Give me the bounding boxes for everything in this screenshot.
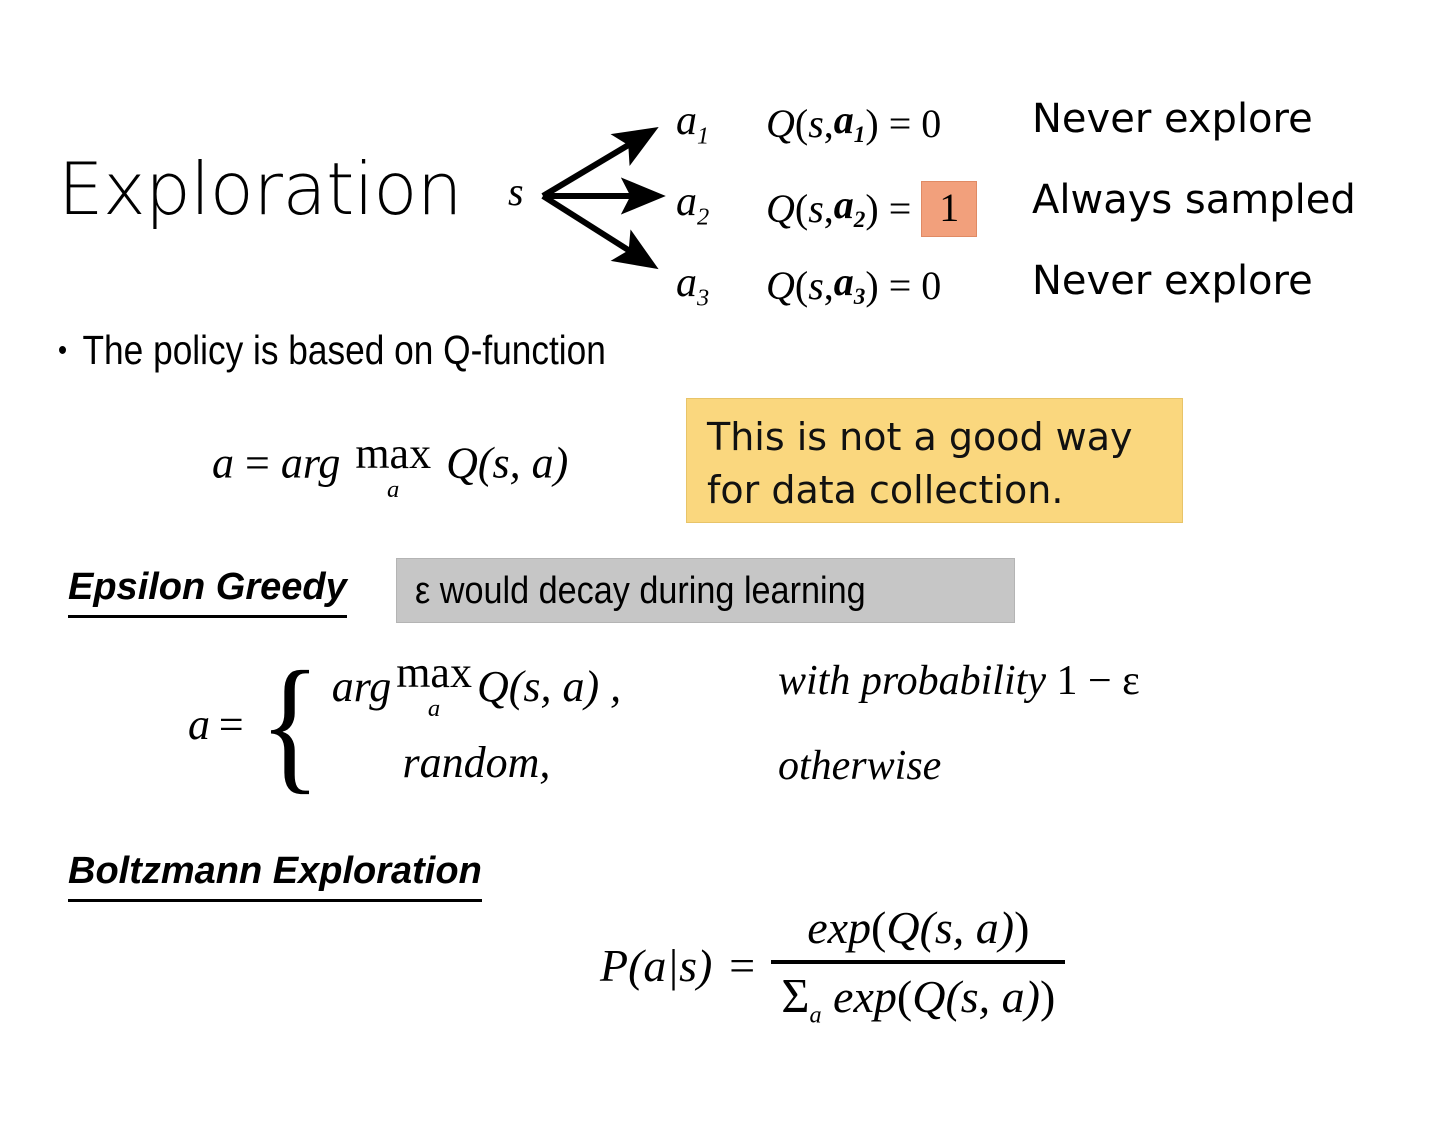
equals-sign: = [879, 104, 922, 144]
max-operator: max a [355, 432, 431, 503]
eq-lhs: a [212, 438, 234, 487]
epsilon-condition-1: with probability 1 − ε [778, 660, 1140, 702]
condition-text: with probability [778, 658, 1046, 704]
equals-sign: = [726, 939, 771, 992]
q-function-symbol: Q [766, 189, 795, 229]
q-expression: Q(s, a) [886, 902, 1014, 953]
action-subscript: 1 [697, 122, 709, 149]
fraction-bar [771, 960, 1065, 964]
exp-keyword: exp [807, 902, 871, 953]
bullet-line: •The policy is based on Q-function [58, 330, 606, 371]
equals-sign: = [879, 189, 922, 229]
q-value-row-2: Q(s,a2)=1 [766, 181, 977, 237]
page-title: Exploration [58, 153, 462, 225]
tree-arrows [543, 131, 658, 265]
paren-open: ( [795, 189, 808, 229]
epsilon-greedy-equation: a = { arg max a Q(s, a) , random, [188, 655, 621, 793]
paren-close: ) [1014, 902, 1029, 953]
q-function-symbol: Q [766, 104, 795, 144]
callout-line-1: This is not a good way [687, 399, 1182, 462]
q-state-arg: s [808, 266, 824, 306]
section-heading-epsilon-greedy: Epsilon Greedy [68, 568, 347, 618]
piecewise-case-1: arg max a Q(s, a) , [332, 655, 621, 717]
tree-state-label: s [508, 172, 524, 212]
arg-comma: , [824, 189, 834, 229]
max-label: max [396, 651, 472, 695]
slide-canvas: Exploration s a1 a2 a3 Q(s,a1)=0 Never e… [0, 0, 1454, 1126]
q-expression: Q(s, a) , [477, 661, 621, 712]
q-action-letter: a [834, 182, 854, 227]
action-letter: a [676, 260, 697, 306]
tree-action-label-3: a3 [676, 262, 709, 311]
section-heading-boltzmann-exploration: Boltzmann Exploration [68, 852, 482, 902]
q-action-arg: a3 [834, 262, 866, 309]
q-action-arg: a1 [834, 100, 866, 147]
paren-open: ( [795, 266, 808, 306]
argmax-policy-equation: a = arg max a Q(s, a) [212, 432, 568, 503]
equals-sign: = [879, 266, 922, 306]
paren-open: ( [897, 971, 912, 1022]
callout-line-2: for data collection. [687, 462, 1182, 515]
exp-keyword: exp [833, 971, 897, 1022]
equals-sign: = [216, 699, 252, 750]
action-subscript: 2 [697, 203, 709, 230]
max-subscript: a [387, 478, 399, 503]
action-letter: a [676, 98, 697, 144]
q-value: 0 [921, 104, 941, 144]
tree-action-label-2: a2 [676, 181, 709, 230]
q-row-note-3: Never explore [1032, 261, 1313, 301]
epsilon-condition-2: otherwise [778, 745, 941, 787]
paren-open: ( [871, 902, 886, 953]
q-expression: Q(s, a) [912, 971, 1040, 1022]
piecewise-cases: arg max a Q(s, a) , random, [332, 655, 621, 793]
q-action-arg: a2 [834, 185, 866, 232]
equals-sign: = [245, 438, 270, 487]
eq-lhs: a [188, 699, 216, 750]
q-action-subscript: 3 [854, 284, 866, 310]
action-letter: a [676, 179, 697, 225]
max-subscript: a [428, 697, 440, 722]
epsilon-decay-note-box: ε would decay during learning [396, 558, 1015, 623]
bullet-text: The policy is based on Q-function [83, 327, 606, 373]
paren-close: ) [865, 104, 878, 144]
sigma-subscript: a [809, 1002, 821, 1029]
arg-keyword: arg [281, 438, 341, 487]
q-action-letter: a [834, 259, 854, 304]
summation-symbol: Σa [781, 970, 821, 1023]
callout-box-data-collection: This is not a good way for data collecti… [686, 398, 1183, 523]
q-action-subscript: 2 [854, 207, 866, 233]
piecewise-brace-icon: { [259, 666, 320, 783]
sigma-glyph: Σ [781, 970, 809, 1023]
max-operator: max a [396, 651, 472, 722]
max-label: max [355, 432, 431, 476]
fraction: exp(Q(s, a)) Σa exp(Q(s, a)) [771, 900, 1065, 1030]
action-subscript: 3 [697, 284, 709, 311]
q-function-symbol: Q [766, 266, 795, 306]
boltzmann-softmax-equation: P(a|s) = exp(Q(s, a)) Σa exp(Q(s, a)) [600, 900, 1065, 1030]
q-value: 0 [921, 266, 941, 306]
q-action-subscript: 1 [854, 122, 866, 148]
highlighted-q-value: 1 [921, 181, 977, 237]
tree-action-label-1: a1 [676, 100, 709, 149]
fraction-numerator: exp(Q(s, a)) [797, 900, 1039, 956]
arg-comma: , [824, 104, 834, 144]
q-row-note-2: Always sampled [1032, 180, 1356, 220]
paren-close: ) [1040, 971, 1055, 1022]
q-expression: Q(s, a) [446, 438, 568, 487]
q-row-note-1: Never explore [1032, 99, 1313, 139]
q-action-letter: a [834, 97, 854, 142]
paren-close: ) [865, 266, 878, 306]
eq-lhs-probability: P(a|s) [600, 939, 726, 992]
epsilon-decay-note-text: ε would decay during learning [397, 572, 866, 610]
condition-value: 1 − ε [1056, 658, 1139, 704]
paren-close: ) [865, 189, 878, 229]
q-state-arg: s [808, 189, 824, 229]
arg-keyword: arg [332, 661, 392, 712]
q-value-row-3: Q(s,a3)=0 [766, 262, 941, 309]
piecewise-case-2: random, [332, 731, 621, 793]
arg-comma: , [824, 266, 834, 306]
fraction-denominator: Σa exp(Q(s, a)) [771, 968, 1065, 1030]
q-state-arg: s [808, 104, 824, 144]
paren-open: ( [795, 104, 808, 144]
bullet-marker-icon: • [58, 334, 83, 367]
q-value-row-1: Q(s,a1)=0 [766, 100, 941, 147]
